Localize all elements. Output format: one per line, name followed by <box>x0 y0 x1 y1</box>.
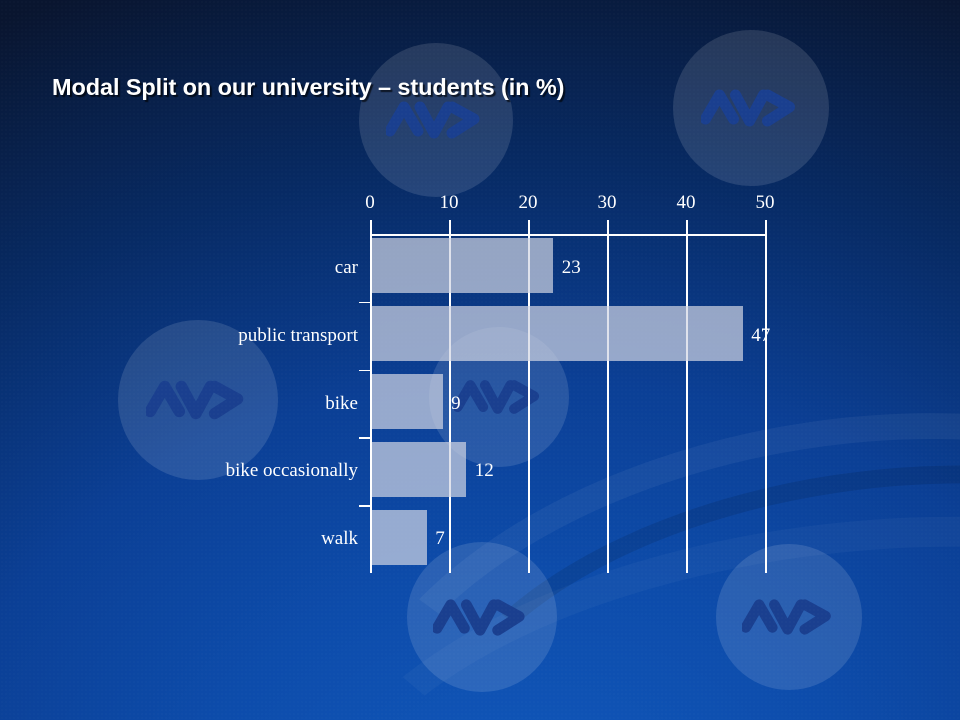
category-tick-3 <box>359 437 370 439</box>
bar-public-transport <box>372 306 743 361</box>
value-label-car: 23 <box>562 257 581 279</box>
logo-circle-left <box>118 320 278 480</box>
av-chevron-logo-icon <box>454 376 545 418</box>
category-tick-4 <box>359 505 370 507</box>
y-axis-line <box>370 234 372 573</box>
bar-car <box>372 238 554 293</box>
x-tick-label-50: 50 <box>756 192 775 214</box>
category-tick-1 <box>359 302 370 304</box>
slide-title: Modal Split on our university – students… <box>52 74 564 101</box>
value-label-public-transport: 47 <box>751 325 770 347</box>
gridline-40 <box>686 234 688 573</box>
logo-circle-top-right <box>673 30 829 186</box>
bar-walk <box>372 510 427 565</box>
logo-circle-bottom-right <box>716 544 862 690</box>
x-tick-label-0: 0 <box>365 192 375 214</box>
x-tick-0 <box>370 220 372 234</box>
category-label-walk: walk <box>0 528 370 550</box>
x-tick-20 <box>528 220 530 234</box>
background-swoosh-1 <box>288 343 960 720</box>
logo-circle-top-center <box>359 43 513 197</box>
av-chevron-logo-icon <box>433 595 531 640</box>
value-label-walk: 7 <box>435 528 445 550</box>
category-label-car: car <box>0 257 370 279</box>
x-axis-line <box>370 234 765 236</box>
x-tick-30 <box>607 220 609 234</box>
x-tick-label-20: 20 <box>519 192 538 214</box>
category-tick-2 <box>359 370 370 372</box>
av-chevron-logo-icon <box>742 595 837 639</box>
av-chevron-logo-icon <box>386 97 486 143</box>
x-tick-label-40: 40 <box>677 192 696 214</box>
gridline-30 <box>607 234 609 573</box>
x-tick-10 <box>449 220 451 234</box>
logo-circle-bottom-center <box>407 542 557 692</box>
x-tick-label-30: 30 <box>598 192 617 214</box>
presentation-slide: Modal Split on our university – students… <box>0 0 960 720</box>
gridline-50 <box>765 234 767 573</box>
bar-bike-occasionally <box>372 442 467 497</box>
x-tick-50 <box>765 220 767 234</box>
x-tick-40 <box>686 220 688 234</box>
av-chevron-logo-icon <box>146 376 250 424</box>
av-chevron-logo-icon <box>701 85 802 131</box>
logo-circle-center <box>429 327 569 467</box>
